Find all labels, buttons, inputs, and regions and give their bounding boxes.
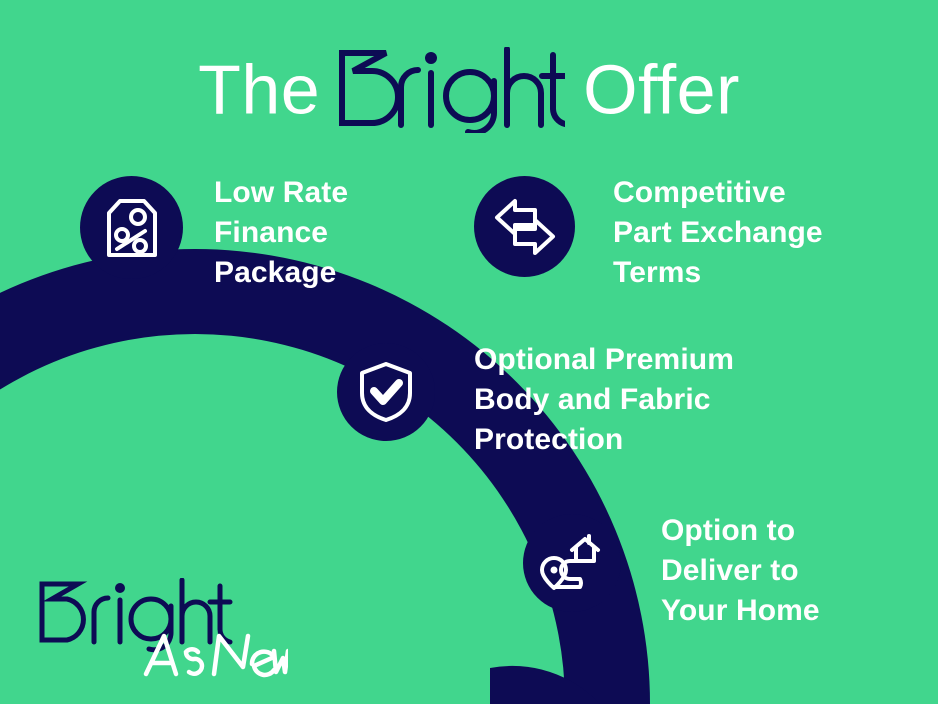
feature-label: Option to Deliver to Your Home xyxy=(661,511,820,631)
feature-icon-badge xyxy=(523,514,621,612)
feature-label: Low Rate Finance Package xyxy=(214,173,348,293)
feature-part-exchange: Competitive Part Exchange Terms xyxy=(474,176,823,293)
page-title: The Offer xyxy=(0,44,938,135)
logo-asnew-wordmark xyxy=(146,636,288,675)
feature-home-delivery: Option to Deliver to Your Home xyxy=(523,514,820,631)
title-prefix: The xyxy=(198,51,320,129)
feature-icon-badge xyxy=(337,343,435,441)
feature-label: Competitive Part Exchange Terms xyxy=(613,173,823,293)
feature-icon-badge xyxy=(80,176,183,279)
bright-wordmark xyxy=(339,47,565,138)
offer-graphic: The Offer xyxy=(0,0,938,704)
feature-label: Optional Premium Body and Fabric Protect… xyxy=(474,340,734,460)
logo-bright-wordmark xyxy=(42,580,230,650)
feature-icon-badge xyxy=(474,176,575,277)
shield-check-icon xyxy=(358,361,414,423)
brand-logo xyxy=(38,578,288,678)
navy-wedge-shape xyxy=(490,666,600,704)
delivery-route-home-icon xyxy=(540,533,604,593)
title-suffix: Offer xyxy=(583,51,740,129)
price-tag-percent-icon xyxy=(104,198,160,258)
exchange-arrows-icon xyxy=(494,198,556,256)
feature-body-fabric-protection: Optional Premium Body and Fabric Protect… xyxy=(337,343,734,460)
feature-low-rate-finance: Low Rate Finance Package xyxy=(80,176,348,293)
